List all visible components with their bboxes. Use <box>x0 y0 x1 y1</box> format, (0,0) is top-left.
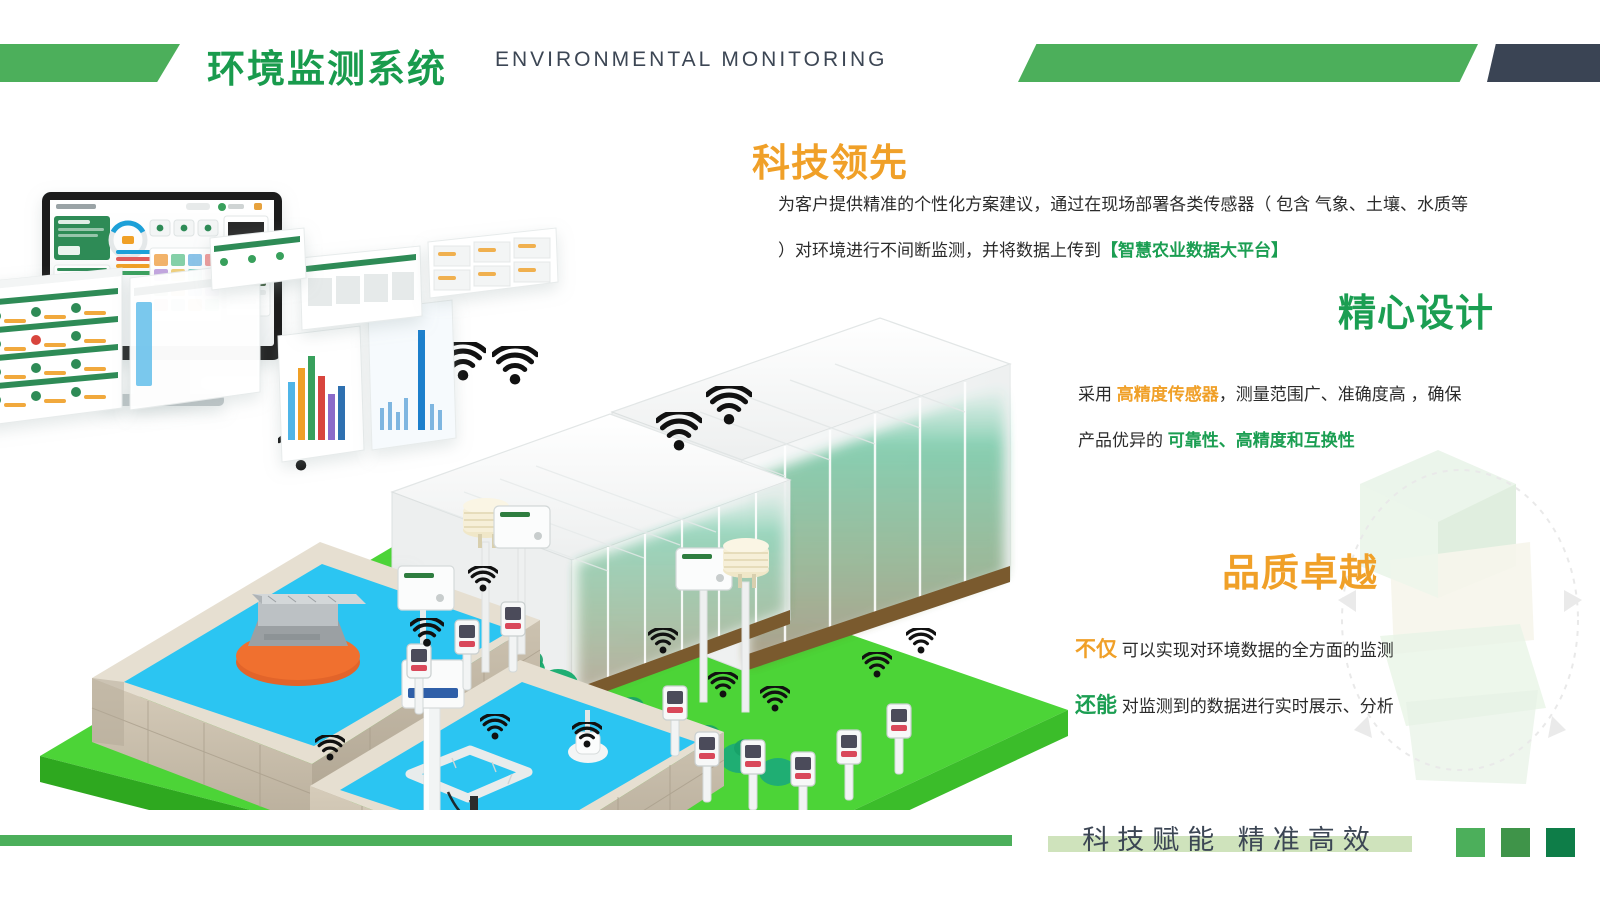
section-heading-quality-excellence: 品质卓越 <box>1222 542 1378 597</box>
design-seg-1: 采用 <box>1078 385 1117 404</box>
footer-slogan: 科技赋能 精准高效 <box>1058 818 1402 857</box>
quality-line-2-lead: 还能 <box>1075 694 1117 717</box>
header-bar-dark-accent <box>1487 44 1600 82</box>
footer-rule-green <box>0 835 1012 846</box>
quality-line-1-lead: 不仅 <box>1075 638 1117 661</box>
quality-line-2-rest: 对监测到的数据进行实时展示、分析 <box>1117 697 1394 716</box>
design-seg-reliability: 可靠性、高精度和互换性 <box>1168 431 1355 450</box>
section-body-tech-leading: 为客户提供精准的个性化方案建议，通过在现场部署各类传感器（ 包含 气象、土壤、水… <box>778 182 1468 274</box>
poster-root: 环境监测系统 ENVIRONMENTAL MONITORING 科技领先 为客户… <box>0 0 1600 900</box>
quality-line-1: 不仅 可以实现对环境数据的全方面的监测 <box>1075 636 1495 665</box>
footer-square-3 <box>1546 828 1575 857</box>
footer-square-1 <box>1456 828 1485 857</box>
decorative-watermark <box>1320 440 1600 790</box>
footer-square-2 <box>1501 828 1530 857</box>
header-bar-left-green <box>0 44 180 82</box>
section-heading-careful-design: 精心设计 <box>1338 282 1494 337</box>
quality-line-1-rest: 可以实现对环境数据的全方面的监测 <box>1117 641 1394 660</box>
section-body-careful-design: 采用 高精度传感器，测量范围广、准确度高 ，确保产品优异的 可靠性、高精度和互换… <box>1078 372 1470 464</box>
header-bar-right-green <box>1018 44 1478 82</box>
section-body-emphasis-platform: 【智慧农业数据大平台】 <box>1101 241 1288 260</box>
quality-line-2: 还能 对监测到的数据进行实时展示、分析 <box>1075 692 1495 721</box>
section-heading-tech-leading: 科技领先 <box>752 132 908 187</box>
page-title: 环境监测系统 <box>207 38 447 93</box>
page-subtitle: ENVIRONMENTAL MONITORING <box>495 48 887 72</box>
design-seg-high-precision-sensor: 高精度传感器 <box>1117 385 1219 404</box>
